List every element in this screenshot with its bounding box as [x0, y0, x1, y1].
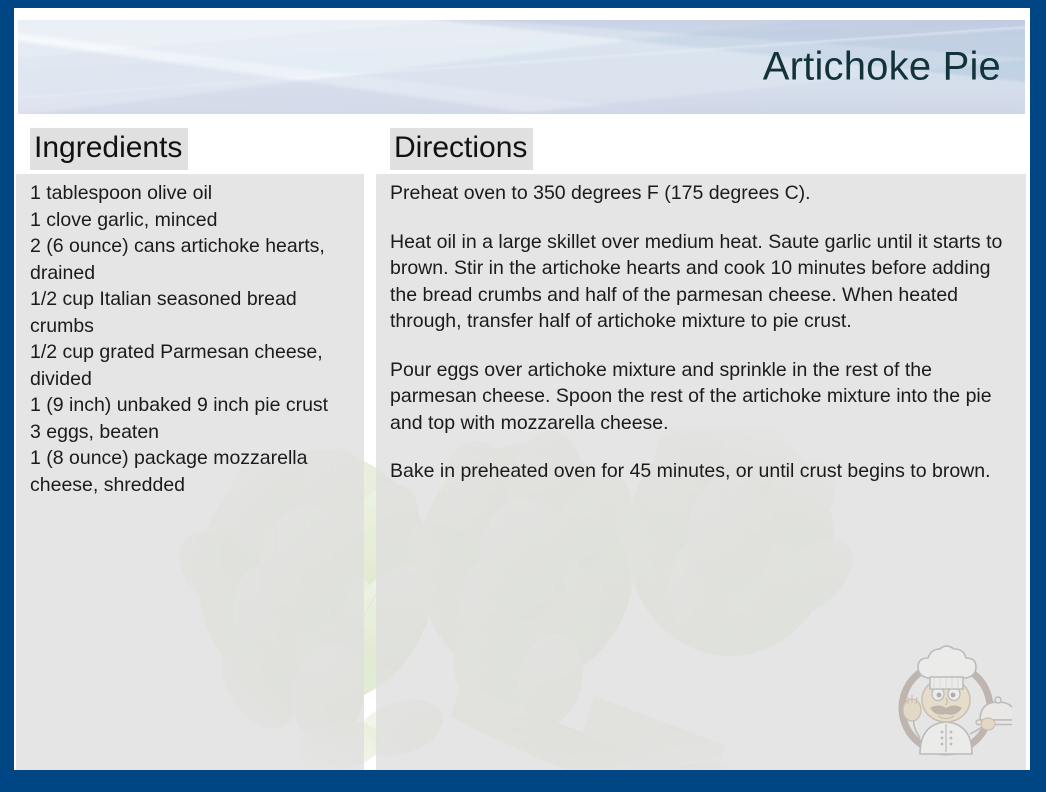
list-item: 1 (8 ounce) package mozzarella cheese, s…	[30, 445, 350, 498]
direction-step: Pour eggs over artichoke mixture and spr…	[390, 357, 1012, 437]
recipe-card: Artichoke Pie	[0, 0, 1046, 792]
list-item: 1 clove garlic, minced	[30, 207, 350, 234]
ingredients-panel: Ingredients 1 tablespoon olive oil 1 clo…	[16, 118, 364, 770]
content-columns: Ingredients 1 tablespoon olive oil 1 clo…	[14, 118, 1030, 770]
recipe-page: Artichoke Pie	[14, 8, 1030, 770]
header-banner: Artichoke Pie	[18, 20, 1025, 114]
list-item: 3 eggs, beaten	[30, 419, 350, 446]
ingredients-body: 1 tablespoon olive oil 1 clove garlic, m…	[16, 180, 364, 498]
ingredients-heading: Ingredients	[30, 128, 188, 170]
direction-step: Preheat oven to 350 degrees F (175 degre…	[390, 180, 1012, 207]
direction-step: Bake in preheated oven for 45 minutes, o…	[390, 458, 1012, 485]
list-item: 2 (6 ounce) cans artichoke hearts, drain…	[30, 233, 350, 286]
directions-heading: Directions	[390, 128, 533, 170]
list-item: 1 tablespoon olive oil	[30, 180, 350, 207]
direction-step: Heat oil in a large skillet over medium …	[390, 229, 1012, 335]
list-item: 1/2 cup grated Parmesan cheese, divided	[30, 339, 350, 392]
ingredients-list: 1 tablespoon olive oil 1 clove garlic, m…	[30, 180, 350, 498]
list-item: 1/2 cup Italian seasoned bread crumbs	[30, 286, 350, 339]
directions-body: Preheat oven to 350 degrees F (175 degre…	[376, 180, 1026, 485]
page-title: Artichoke Pie	[763, 45, 1001, 90]
list-item: 1 (9 inch) unbaked 9 inch pie crust	[30, 392, 350, 419]
directions-panel: Directions Preheat oven to 350 degrees F…	[376, 118, 1026, 770]
